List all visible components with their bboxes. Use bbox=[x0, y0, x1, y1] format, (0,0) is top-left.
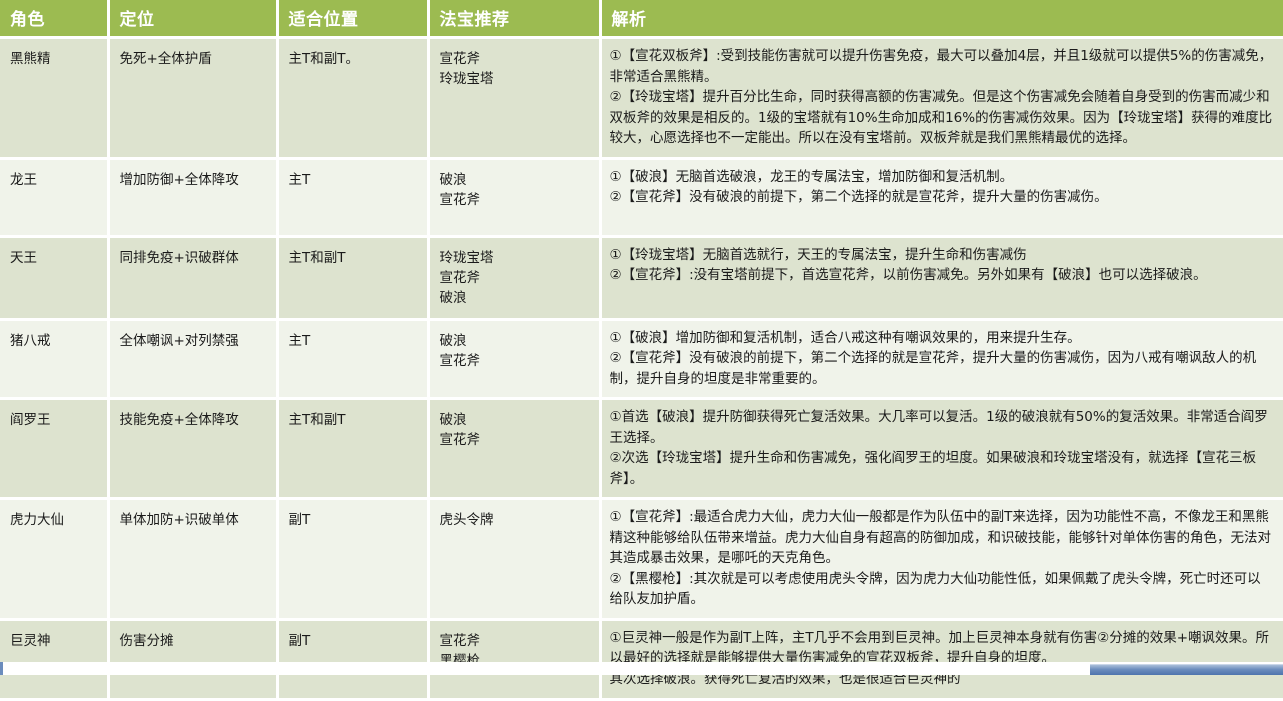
cell-role: 巨灵神 bbox=[0, 619, 108, 699]
role-treasure-table: 角色 定位 适合位置 法宝推荐 解析 黑熊精免死+全体护盾主T和副T。宣花斧玲珑… bbox=[0, 0, 1283, 701]
cell-analysis: ①【破浪】增加防御和复活机制，适合八戒这种有嘲讽效果的，用来提升生存。②【宣花斧… bbox=[600, 319, 1283, 399]
treasure-item: 宣花斧 bbox=[440, 190, 589, 210]
cell-analysis: ①首选【破浪】提升防御获得死亡复活效果。大几率可以复活。1级的破浪就有50%的复… bbox=[600, 399, 1283, 499]
cell-treasure: 破浪宣花斧 bbox=[428, 158, 600, 236]
table-row: 黑熊精免死+全体护盾主T和副T。宣花斧玲珑宝塔①【宣花双板斧】:受到技能伤害就可… bbox=[0, 38, 1283, 159]
analysis-paragraph: ②【黑樱枪】:其次就是可以考虑使用虎头令牌，因为虎力大仙功能性低，如果佩戴了虎头… bbox=[610, 569, 1275, 610]
cell-treasure: 破浪宣花斧 bbox=[428, 399, 600, 499]
treasure-item: 破浪 bbox=[440, 410, 589, 430]
cell-slot: 副T bbox=[277, 619, 428, 699]
table-row: 虎力大仙单体加防+识破单体副T虎头令牌①【宣花斧】:最适合虎力大仙，虎力大仙一般… bbox=[0, 499, 1283, 620]
cell-slot: 主T和副T bbox=[277, 399, 428, 499]
cell-analysis: ①【破浪】无脑首选破浪，龙王的专属法宝，增加防御和复活机制。②【宣花斧】没有破浪… bbox=[600, 158, 1283, 236]
cell-slot: 主T和副T。 bbox=[277, 38, 428, 159]
treasure-item: 宣花斧 bbox=[440, 49, 589, 69]
page-root: 角色 定位 适合位置 法宝推荐 解析 黑熊精免死+全体护盾主T和副T。宣花斧玲珑… bbox=[0, 0, 1283, 675]
analysis-paragraph: ①【宣花斧】:最适合虎力大仙，虎力大仙一般都是作为队伍中的副T来选择，因为功能性… bbox=[610, 507, 1275, 569]
cell-role: 黑熊精 bbox=[0, 38, 108, 159]
column-header-role: 角色 bbox=[0, 0, 108, 38]
table-body: 黑熊精免死+全体护盾主T和副T。宣花斧玲珑宝塔①【宣花双板斧】:受到技能伤害就可… bbox=[0, 38, 1283, 700]
cell-analysis: ①【宣花斧】:最适合虎力大仙，虎力大仙一般都是作为队伍中的副T来选择，因为功能性… bbox=[600, 499, 1283, 620]
analysis-paragraph: ②【宣花斧】:没有宝塔前提下，首选宣花斧，以前伤害减免。另外如果有【破浪】也可以… bbox=[610, 265, 1275, 286]
treasure-item: 破浪 bbox=[440, 170, 589, 190]
cell-position: 技能免疫+全体降攻 bbox=[108, 399, 277, 499]
cell-treasure: 宣花斧黑樱枪 bbox=[428, 619, 600, 699]
analysis-paragraph: ①【破浪】无脑首选破浪，龙王的专属法宝，增加防御和复活机制。 bbox=[610, 167, 1275, 188]
cell-slot: 主T和副T bbox=[277, 236, 428, 319]
table-header: 角色 定位 适合位置 法宝推荐 解析 bbox=[0, 0, 1283, 38]
treasure-item: 虎头令牌 bbox=[440, 510, 589, 530]
column-header-slot: 适合位置 bbox=[277, 0, 428, 38]
scrollbar-thumb[interactable] bbox=[1090, 664, 1283, 675]
analysis-paragraph: ②【玲珑宝塔】提升百分比生命，同时获得高额的伤害减免。但是这个伤害减免会随着自身… bbox=[610, 87, 1275, 149]
cell-position: 同排免疫+识破群体 bbox=[108, 236, 277, 319]
analysis-paragraph: ②【宣花斧】没有破浪的前提下，第二个选择的就是宣花斧，提升大量的伤害减伤，因为八… bbox=[610, 348, 1275, 389]
treasure-item: 宣花斧 bbox=[440, 631, 589, 651]
cell-analysis: ①【玲珑宝塔】无脑首选就行，天王的专属法宝，提升生命和伤害减伤②【宣花斧】:没有… bbox=[600, 236, 1283, 319]
cell-position: 增加防御+全体降攻 bbox=[108, 158, 277, 236]
analysis-paragraph: ②次选【玲珑宝塔】提升生命和伤害减免，强化阎罗王的坦度。如果破浪和玲珑宝塔没有，… bbox=[610, 448, 1275, 489]
table-row: 猪八戒全体嘲讽+对列禁强主T破浪宣花斧①【破浪】增加防御和复活机制，适合八戒这种… bbox=[0, 319, 1283, 399]
cell-role: 龙王 bbox=[0, 158, 108, 236]
cell-treasure: 宣花斧玲珑宝塔 bbox=[428, 38, 600, 159]
cell-position: 单体加防+识破单体 bbox=[108, 499, 277, 620]
treasure-item: 宣花斧 bbox=[440, 351, 589, 371]
cell-role: 虎力大仙 bbox=[0, 499, 108, 620]
analysis-paragraph: ①【宣花双板斧】:受到技能伤害就可以提升伤害免疫，最大可以叠加4层，并且1级就可… bbox=[610, 46, 1275, 87]
cell-role: 猪八戒 bbox=[0, 319, 108, 399]
treasure-item: 玲珑宝塔 bbox=[440, 69, 589, 89]
column-header-analysis: 解析 bbox=[600, 0, 1283, 38]
cell-position: 全体嘲讽+对列禁强 bbox=[108, 319, 277, 399]
cell-role: 阎罗王 bbox=[0, 399, 108, 499]
cell-position: 免死+全体护盾 bbox=[108, 38, 277, 159]
treasure-item: 宣花斧 bbox=[440, 268, 589, 288]
cell-analysis: ①巨灵神一般是作为副T上阵，主T几乎不会用到巨灵神。加上巨灵神本身就有伤害②分摊… bbox=[600, 619, 1283, 699]
cell-position: 伤害分摊 bbox=[108, 619, 277, 699]
cell-slot: 副T bbox=[277, 499, 428, 620]
cell-treasure: 破浪宣花斧 bbox=[428, 319, 600, 399]
treasure-item: 宣花斧 bbox=[440, 430, 589, 450]
treasure-item: 破浪 bbox=[440, 331, 589, 351]
treasure-item: 破浪 bbox=[440, 288, 589, 308]
table-row: 巨灵神伤害分摊副T宣花斧黑樱枪①巨灵神一般是作为副T上阵，主T几乎不会用到巨灵神… bbox=[0, 619, 1283, 699]
analysis-paragraph: ①首选【破浪】提升防御获得死亡复活效果。大几率可以复活。1级的破浪就有50%的复… bbox=[610, 407, 1275, 448]
analysis-paragraph: ②【宣花斧】没有破浪的前提下，第二个选择的就是宣花斧，提升大量的伤害减伤。 bbox=[610, 187, 1275, 208]
cell-treasure: 玲珑宝塔宣花斧破浪 bbox=[428, 236, 600, 319]
cell-role: 天王 bbox=[0, 236, 108, 319]
horizontal-scrollbar[interactable] bbox=[0, 662, 1283, 675]
treasure-item: 玲珑宝塔 bbox=[440, 248, 589, 268]
cell-slot: 主T bbox=[277, 319, 428, 399]
table-header-row: 角色 定位 适合位置 法宝推荐 解析 bbox=[0, 0, 1283, 38]
table-row: 天王同排免疫+识破群体主T和副T玲珑宝塔宣花斧破浪①【玲珑宝塔】无脑首选就行，天… bbox=[0, 236, 1283, 319]
column-header-position: 定位 bbox=[108, 0, 277, 38]
analysis-paragraph: ①【破浪】增加防御和复活机制，适合八戒这种有嘲讽效果的，用来提升生存。 bbox=[610, 328, 1275, 349]
analysis-paragraph: ①【玲珑宝塔】无脑首选就行，天王的专属法宝，提升生命和伤害减伤 bbox=[610, 245, 1275, 266]
scrollbar-left-cap[interactable] bbox=[0, 662, 3, 675]
table-row: 阎罗王技能免疫+全体降攻主T和副T破浪宣花斧①首选【破浪】提升防御获得死亡复活效… bbox=[0, 399, 1283, 499]
cell-analysis: ①【宣花双板斧】:受到技能伤害就可以提升伤害免疫，最大可以叠加4层，并且1级就可… bbox=[600, 38, 1283, 159]
cell-treasure: 虎头令牌 bbox=[428, 499, 600, 620]
table-row: 龙王增加防御+全体降攻主T破浪宣花斧①【破浪】无脑首选破浪，龙王的专属法宝，增加… bbox=[0, 158, 1283, 236]
column-header-treasure: 法宝推荐 bbox=[428, 0, 600, 38]
cell-slot: 主T bbox=[277, 158, 428, 236]
